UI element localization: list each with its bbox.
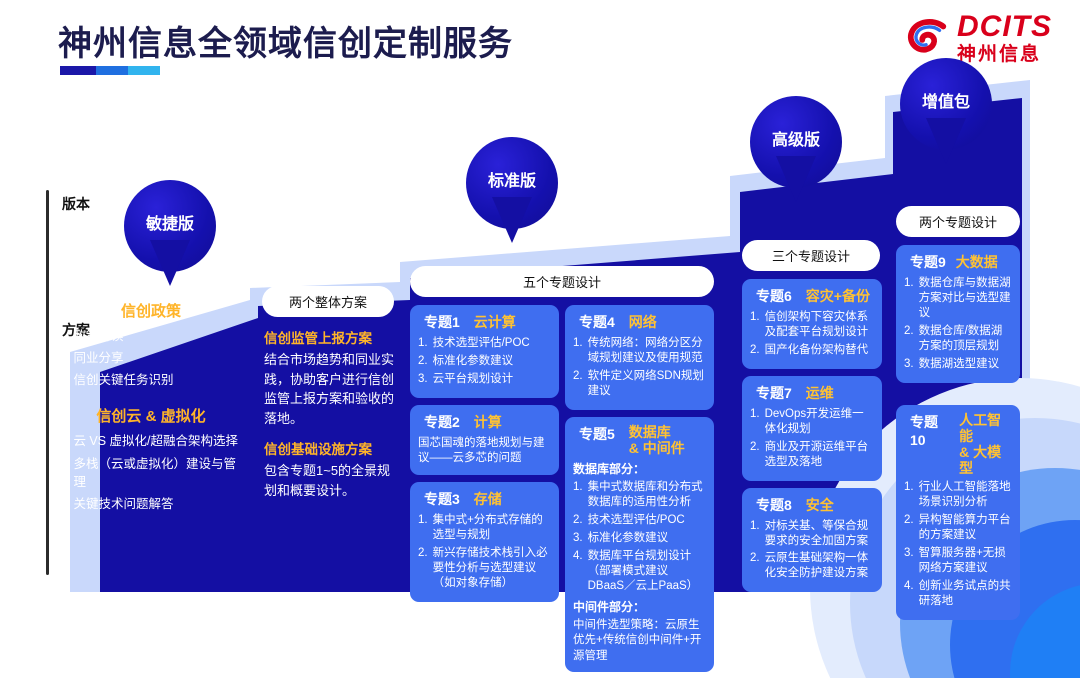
topic-name: 网络: [629, 314, 657, 330]
topic-name: 运维: [806, 385, 834, 401]
topic-number: 专题8: [756, 495, 792, 515]
topic-2-text: 国芯国魂的落地规划与建议——云多芯的问题: [418, 436, 551, 467]
topic-name: 云计算: [474, 314, 516, 330]
axis-label-version: 版本: [62, 194, 90, 214]
topic-name-line1: 人工智能: [959, 412, 1012, 444]
list-item: 1.DevOps开发运维一体化规划: [750, 407, 874, 437]
list-item: 2.技术选型评估/POC: [573, 513, 706, 528]
topic-5-list: 1.集中式数据库和分布式数据库的适用性分析 2.技术选型评估/POC 3.标准化…: [573, 480, 706, 594]
agile-section1-title: 信创政策: [58, 300, 244, 321]
card-topic-9[interactable]: 专题9 大数据 1.数据仓库与数据湖方案对比与选型建议 2.数据仓库/数据湖方案…: [896, 245, 1020, 383]
page-title: 神州信息全领域信创定制服务: [58, 16, 513, 65]
topic-number: 专题9: [910, 252, 946, 272]
list-item: 3.云平台规划设计: [418, 372, 551, 387]
topic-name-line2: & 大模型: [959, 444, 1012, 476]
list-item: 2.新兴存储技术栈引入必要性分析与选型建议（如对象存储）: [418, 546, 551, 591]
list-item: 2.国产化备份架构替代: [750, 343, 874, 358]
card-topic-7[interactable]: 专题7 运维 1.DevOps开发运维一体化规划 2.商业及开源运维平台选型及落…: [742, 376, 882, 481]
agile-section2-title: 信创云 & 虚拟化: [58, 405, 244, 426]
topic-5-mw-text: 中间件选型策略：云原生优先+传统信创中间件+开源管理: [573, 618, 706, 665]
topic-name: 存储: [474, 491, 502, 507]
card-topic-2[interactable]: 专题2 计算 国芯国魂的落地规划与建议——云多芯的问题: [410, 405, 559, 475]
topic-4-list: 1.传统网络：网络分区分域规划建议及使用规范 2.软件定义网络SDN规划建议: [573, 336, 706, 399]
overall-block2-text: 包含专题1~5的全景规划和概要设计。: [264, 461, 398, 500]
topic-number: 专题4: [579, 312, 615, 332]
list-item: 2.异构智能算力平台的方案建议: [904, 513, 1012, 543]
topics-right-stack: 专题4 网络 1.传统网络：网络分区分域规划建议及使用规范 2.软件定义网络SD…: [565, 305, 714, 679]
topic-5-sub-db: 数据库部分：: [573, 460, 706, 477]
pin-label: 增值包: [900, 88, 992, 112]
list-item: 2.标准化参数建议: [418, 354, 551, 369]
agile-section1-list: 1.政策解读 2.同业分享 3.信创关键任务识别: [58, 327, 244, 389]
list-item: 3.信创关键任务识别: [58, 371, 244, 389]
pin-label: 标准版: [466, 167, 558, 191]
list-item: 2.数据仓库/数据湖方案的顶层规划: [904, 324, 1012, 354]
topic-number: 专题7: [756, 383, 792, 403]
topic-8-list: 1.对标关基、等保合规要求的安全加固方案 2.云原生基础架构一体化安全防护建设方…: [750, 519, 874, 582]
list-item: 2.商业及开源运维平台选型及落地: [750, 440, 874, 470]
title-underline: [60, 66, 160, 75]
pin-agile[interactable]: 敏捷版: [124, 180, 216, 272]
list-item: 1.对标关基、等保合规要求的安全加固方案: [750, 519, 874, 549]
list-item: 1.传统网络：网络分区分域规划建议及使用规范: [573, 336, 706, 366]
pin-advanced[interactable]: 高级版: [750, 96, 842, 188]
list-item: 3.关键技术问题解答: [58, 495, 244, 513]
list-item: 2.软件定义网络SDN规划建议: [573, 369, 706, 399]
column-standard-topics: 五个专题设计 专题1 云计算 1.技术选型评估/POC 2.标准化参数建议 3.…: [410, 266, 720, 586]
card-topic-5[interactable]: 专题5 数据库 & 中间件 数据库部分： 1.集中式数据库和分布式数据库的适用性…: [565, 417, 714, 672]
topic-5-sub-mw: 中间件部分：: [573, 598, 706, 615]
topic-number: 专题3: [424, 489, 460, 509]
list-item: 1.技术选型评估/POC: [418, 336, 551, 351]
topic-name: 大数据: [956, 254, 998, 270]
topic-name: 人工智能 & 大模型: [959, 412, 1012, 476]
card-topic-4[interactable]: 专题4 网络 1.传统网络：网络分区分域规划建议及使用规范 2.软件定义网络SD…: [565, 305, 714, 410]
overall-block1-text: 结合市场趋势和同业实践，协助客户进行信创监管上报方案和验收的落地。: [264, 350, 398, 428]
overall-block2-title: 信创基础设施方案: [264, 438, 398, 458]
axis-line: [46, 190, 49, 575]
brand-logo: DCITS 神州信息: [905, 12, 1052, 64]
list-item: 2.同业分享: [58, 349, 244, 367]
list-item: 3.标准化参数建议: [573, 531, 706, 546]
topic-number: 专题5: [579, 424, 615, 444]
topic-name: 数据库 & 中间件: [629, 424, 685, 456]
overall-block1-title: 信创监管上报方案: [264, 327, 398, 347]
topic-name-line2: & 中间件: [629, 440, 685, 456]
dcits-swirl-icon: [905, 15, 951, 61]
topic-number: 专题1: [424, 312, 460, 332]
pill-two-topics: 两个专题设计: [896, 206, 1020, 237]
topic-6-list: 1.信创架构下容灾体系及配套平台规划设计 2.国产化备份架构替代: [750, 310, 874, 358]
topic-10-list: 1.行业人工智能落地场景识别分析 2.异构智能算力平台的方案建议 3.智算服务器…: [904, 480, 1012, 609]
topic-number: 专题10: [910, 412, 951, 448]
pin-standard[interactable]: 标准版: [466, 137, 558, 229]
pin-value-add[interactable]: 增值包: [900, 58, 992, 150]
list-item: 2.多栈（云或虚拟化）建设与管理: [58, 455, 244, 491]
card-topic-8[interactable]: 专题8 安全 1.对标关基、等保合规要求的安全加固方案 2.云原生基础架构一体化…: [742, 488, 882, 593]
pill-five-topics: 五个专题设计: [410, 266, 714, 297]
list-item: 1.云 VS 虚拟化/超融合架构选择: [58, 432, 244, 450]
list-item: 4.数据库平台规划设计（部署模式建议 DBaaS／云上PaaS）: [573, 549, 706, 594]
topics-left-stack: 专题1 云计算 1.技术选型评估/POC 2.标准化参数建议 3.云平台规划设计…: [410, 305, 559, 679]
column-value-add: 两个专题设计 专题9 大数据 1.数据仓库与数据湖方案对比与选型建议 2.数据仓…: [896, 206, 1024, 588]
topic-1-list: 1.技术选型评估/POC 2.标准化参数建议 3.云平台规划设计: [418, 336, 551, 387]
card-topic-6[interactable]: 专题6 容灾+备份 1.信创架构下容灾体系及配套平台规划设计 2.国产化备份架构…: [742, 279, 882, 369]
list-item: 3.数据湖选型建议: [904, 357, 1012, 372]
topic-number: 专题2: [424, 412, 460, 432]
column-agile: 信创政策 1.政策解读 2.同业分享 3.信创关键任务识别 信创云 & 虚拟化 …: [50, 300, 252, 590]
topic-name-line1: 数据库: [629, 424, 685, 440]
logo-en-text: DCITS: [957, 12, 1052, 42]
pill-three-topics: 三个专题设计: [742, 240, 880, 271]
topic-7-list: 1.DevOps开发运维一体化规划 2.商业及开源运维平台选型及落地: [750, 407, 874, 470]
topic-name: 计算: [474, 414, 502, 430]
topic-9-list: 1.数据仓库与数据湖方案对比与选型建议 2.数据仓库/数据湖方案的顶层规划 3.…: [904, 276, 1012, 372]
list-item: 1.政策解读: [58, 327, 244, 345]
list-item: 3.智算服务器+无损网络方案建议: [904, 546, 1012, 576]
list-item: 1.数据仓库与数据湖方案对比与选型建议: [904, 276, 1012, 321]
list-item: 1.集中式数据库和分布式数据库的适用性分析: [573, 480, 706, 510]
column-advanced: 三个专题设计 专题6 容灾+备份 1.信创架构下容灾体系及配套平台规划设计 2.…: [742, 240, 888, 588]
list-item: 2.云原生基础架构一体化安全防护建设方案: [750, 551, 874, 581]
pin-label: 敏捷版: [124, 210, 216, 234]
card-topic-1[interactable]: 专题1 云计算 1.技术选型评估/POC 2.标准化参数建议 3.云平台规划设计: [410, 305, 559, 398]
column-standard-overall: 两个整体方案 信创监管上报方案 结合市场趋势和同业实践，协助客户进行信创监管上报…: [262, 286, 402, 586]
topic-name: 安全: [806, 497, 834, 513]
list-item: 4.创新业务试点的共研落地: [904, 579, 1012, 609]
card-topic-3[interactable]: 专题3 存储 1.集中式+分布式存储的选型与规划 2.新兴存储技术栈引入必要性分…: [410, 482, 559, 602]
list-item: 1.信创架构下容灾体系及配套平台规划设计: [750, 310, 874, 340]
pill-two-overall-plans: 两个整体方案: [262, 286, 394, 317]
list-item: 1.集中式+分布式存储的选型与规划: [418, 513, 551, 543]
pin-label: 高级版: [750, 126, 842, 150]
topic-number: 专题6: [756, 286, 792, 306]
topic-name: 容灾+备份: [806, 288, 870, 304]
topic-3-list: 1.集中式+分布式存储的选型与规划 2.新兴存储技术栈引入必要性分析与选型建议（…: [418, 513, 551, 591]
list-item: 1.行业人工智能落地场景识别分析: [904, 480, 1012, 510]
card-topic-10[interactable]: 专题10 人工智能 & 大模型 1.行业人工智能落地场景识别分析 2.异构智能算…: [896, 405, 1020, 620]
agile-section2-list: 1.云 VS 虚拟化/超融合架构选择 2.多栈（云或虚拟化）建设与管理 3.关键…: [58, 432, 244, 513]
